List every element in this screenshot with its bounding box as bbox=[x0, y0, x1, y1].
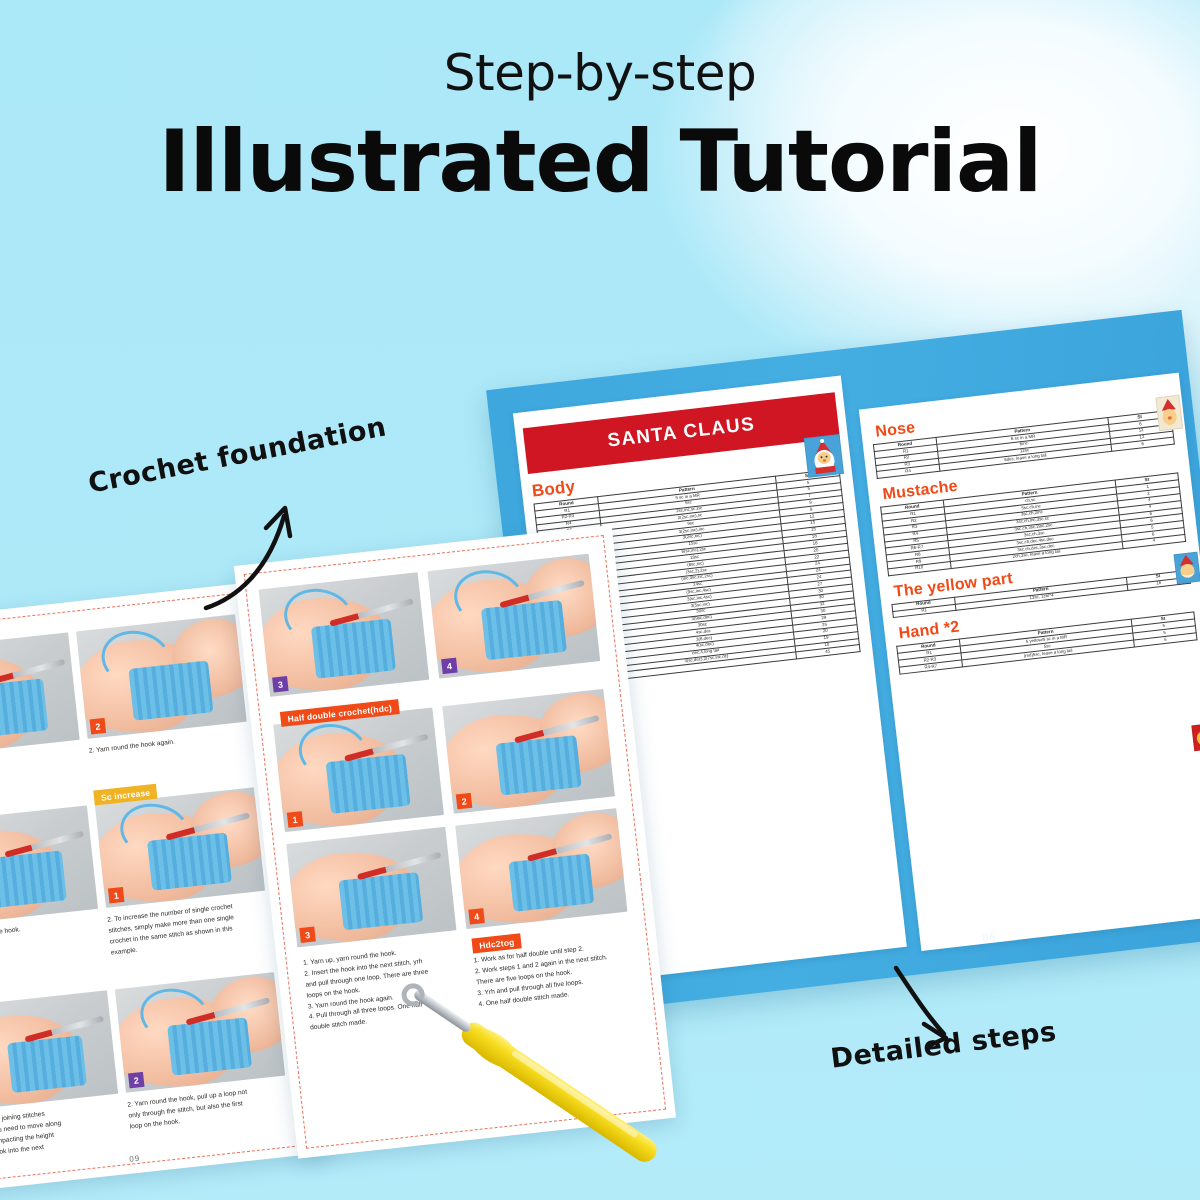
curved-arrow-up-icon bbox=[188, 486, 328, 616]
mustache-thumbnail bbox=[1174, 552, 1200, 585]
nose-thumbnail bbox=[1155, 395, 1183, 432]
step-photo[interactable]: 2 bbox=[442, 689, 615, 814]
yellow-part-thumbnail bbox=[1191, 722, 1200, 751]
tutorial-left-page-number: 09 bbox=[129, 1154, 141, 1164]
crochet-hook-icon bbox=[358, 962, 678, 1162]
step-photo[interactable]: 2 bbox=[115, 972, 285, 1093]
step-badge: 2 bbox=[90, 718, 107, 735]
caption-slip-stitch-note: is used as joining stitcheswhere you nee… bbox=[0, 1101, 126, 1161]
step-badge: 2 bbox=[128, 1072, 145, 1089]
step-badge: 3 bbox=[299, 927, 316, 944]
step-badge: 2 bbox=[456, 793, 473, 810]
step-badge: 1 bbox=[287, 811, 304, 828]
poster-canvas: Step-by-step IllustratedTutorial SANTA C… bbox=[0, 0, 1200, 1200]
santa-banner-label: SANTA CLAUS bbox=[606, 414, 756, 453]
step-photo[interactable]: 3 bbox=[286, 827, 456, 948]
santa-figure-thumbnail bbox=[804, 434, 844, 478]
step-photo[interactable]: 4 bbox=[455, 808, 627, 929]
santa-nose-icon bbox=[1156, 396, 1182, 430]
step-badge: 4 bbox=[468, 908, 485, 925]
title-word-tutorial: Tutorial bbox=[679, 112, 1041, 212]
santa-figure-icon bbox=[807, 435, 841, 476]
step-photo[interactable]: 1 bbox=[273, 707, 444, 832]
caption-pull-loop: 2. Yarn round the hook, pull up a loop n… bbox=[127, 1083, 292, 1133]
step-photo[interactable]: 4 bbox=[428, 554, 601, 679]
step-badge: 1 bbox=[108, 887, 125, 904]
santa-mustache-icon bbox=[1175, 553, 1200, 583]
title-word-illustrated: Illustrated bbox=[159, 112, 654, 212]
heading-subtitle: Step-by-step bbox=[0, 44, 1200, 102]
yellow-part-icon bbox=[1192, 724, 1200, 751]
step-photo[interactable]: 1 bbox=[95, 787, 265, 908]
step-badge: 3 bbox=[272, 676, 289, 693]
page-title: IllustratedTutorial bbox=[0, 112, 1200, 212]
step-photo[interactable]: 2 bbox=[76, 614, 247, 739]
step-badge: 4 bbox=[441, 658, 458, 675]
step-photo[interactable]: 1 bbox=[0, 632, 80, 756]
step-photo[interactable] bbox=[0, 805, 98, 925]
curved-arrow-down-icon bbox=[888, 962, 1008, 1072]
caption-sc-increase: 2. To increase the number of single croc… bbox=[107, 898, 273, 959]
caption-loops-note: three loops on the hook. bbox=[0, 917, 100, 944]
tag-hdc2tog: Hdc2tog bbox=[471, 933, 522, 953]
caption-line: three loops on the hook. bbox=[0, 917, 100, 943]
step-photo[interactable] bbox=[0, 990, 118, 1110]
poster-heading: Step-by-step IllustratedTutorial bbox=[0, 44, 1200, 212]
santa-page-number: 06 bbox=[982, 931, 998, 945]
